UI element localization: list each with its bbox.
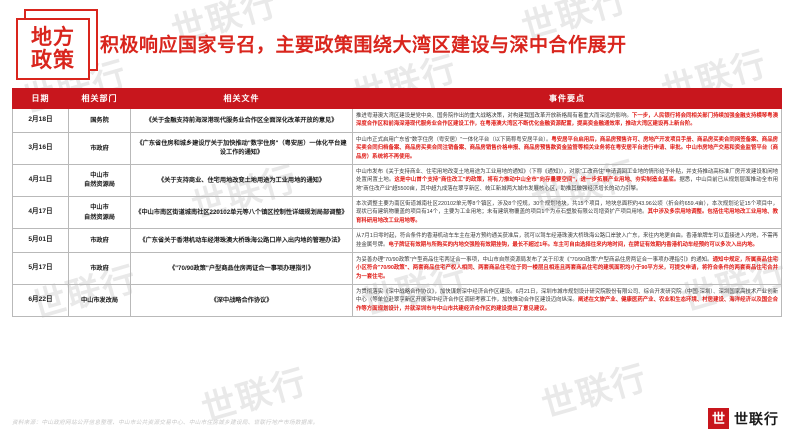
cell-file: 《关于金融支持前海深港现代服务业合作区全面深化改革开放的意见》 [131,109,353,133]
event-text-highlight: 电子牌证有效期与所购买的内地交强险有效期挂钩，最长不超过1年。车主可自由选择往来… [388,242,758,248]
cell-event-points: 中山市发布《关于支持商业、住宅用地改变土地用途为工业用地的通知》（下称《通知》）… [353,164,782,196]
cell-file: 《广东省住房和城乡建设厅关于加快推动"数字住房"（粤安居）一体化平台建设工作的通… [131,132,353,164]
table-row: 5月17日市政府《"70/90政策"户型商品住房两证合一事项办理指引》为妥善办理… [13,252,782,284]
event-text-plain: 为妥善办理"70/90政策"户型商品住宅两证合一事项，中山市自然资源局发布了关于… [356,257,713,263]
cell-date: 4月17日 [13,197,69,229]
cell-file: 《关于支持商业、住宅用地改变土地用途为工业用地的通知》 [131,164,353,196]
slide-page: 地方 政策 积极响应国家号召，主要政策围绕大湾区建设与深中合作展开 日期 相关部… [0,0,793,446]
col-header-dept: 相关部门 [69,89,131,109]
cell-file: 《"70/90政策"户型商品住房两证合一事项办理指引》 [131,252,353,284]
table-row: 3月16日市政府《广东省住房和城乡建设厅关于加快推动"数字住房"（粤安居）一体化… [13,132,782,164]
cell-date: 5月01日 [13,229,69,253]
event-text-highlight: 这是中山首个支持"商住改工"的政策，将有力推动中山全市"向存量要空间"，进一步拓… [394,177,679,183]
cell-event-points: 本次调整主要为南区街道城南社区220102单元等8个镇区，涉及8个控规，30个规… [353,197,782,229]
cell-date: 2月18日 [13,109,69,133]
cell-date: 5月17日 [13,252,69,284]
table-row: 4月17日中山市自然资源局《中山市南区街道城南社区220102单元等八个镇区控制… [13,197,782,229]
logo-mark-icon: 世 [708,408,729,429]
cell-department: 中山市发改局 [69,285,131,317]
cell-event-points: 中山市正式启用广东省"数字住房（粤安居）"一体化平台（以下简称粤安居平台）。粤安… [353,132,782,164]
policy-table-wrap: 日期 相关部门 相关文件 事件要点 2月18日国务院《关于金融支持前海深港现代服… [12,88,781,317]
table-header-row: 日期 相关部门 相关文件 事件要点 [13,89,782,109]
badge-front-card: 地方 政策 [16,18,90,80]
cell-event-points: 为贯彻落实《深中战略合作协议》，加快谋划深中经济合作区建设。6月21日，深圳市城… [353,285,782,317]
cell-department: 市政府 [69,132,131,164]
cell-file: 《广东省关于香港机动车经港珠澳大桥珠海公路口岸入出内地的管理办法》 [131,229,353,253]
policy-table-body: 2月18日国务院《关于金融支持前海深港现代服务业合作区全面深化改革开放的意见》推… [13,109,782,317]
page-header: 地方 政策 积极响应国家号召，主要政策围绕大湾区建设与深中合作展开 [0,0,793,88]
cell-date: 6月22日 [13,285,69,317]
cell-file: 《深中战略合作协议》 [131,285,353,317]
source-note: 资料来源：中山政府网站公开信息整理、中山市公共资源交易中心、中山市住房城乡建设局… [12,418,318,426]
page-title: 积极响应国家号召，主要政策围绕大湾区建设与深中合作展开 [100,30,627,57]
company-logo: 世 世联行 [708,408,779,429]
event-text-plain: 推进粤港澳大湾区建设是党中央、国务院作出的重大战略决策，对构建我国改革开放新格局… [356,113,632,119]
table-row: 6月22日中山市发改局《深中战略合作协议》为贯彻落实《深中战略合作协议》，加快谋… [13,285,782,317]
cell-event-points: 从7月1日零时起，符合条件的香港机动车车主在港方预约通关获准后，就可以驾车经港珠… [353,229,782,253]
col-header-file: 相关文件 [131,89,353,109]
section-badge: 地方 政策 [16,9,102,81]
badge-line-2: 政策 [31,49,75,72]
cell-department: 中山市自然资源局 [69,197,131,229]
cell-event-points: 为妥善办理"70/90政策"户型商品住宅两证合一事项，中山市自然资源局发布了关于… [353,252,782,284]
table-row: 2月18日国务院《关于金融支持前海深港现代服务业合作区全面深化改革开放的意见》推… [13,109,782,133]
policy-table: 日期 相关部门 相关文件 事件要点 2月18日国务院《关于金融支持前海深港现代服… [12,88,782,317]
badge-line-1: 地方 [31,26,75,49]
cell-date: 4月11日 [13,164,69,196]
col-header-points: 事件要点 [353,89,782,109]
cell-date: 3月16日 [13,132,69,164]
table-row: 4月11日中山市自然资源局《关于支持商业、住宅用地改变土地用途为工业用地的通知》… [13,164,782,196]
col-header-date: 日期 [13,89,69,109]
event-text-plain: 中山市正式启用广东省"数字住房（粤安居）"一体化平台（以下简称粤安居平台）。 [356,137,551,143]
cell-department: 市政府 [69,229,131,253]
table-row: 5月01日市政府《广东省关于香港机动车经港珠澳大桥珠海公路口岸入出内地的管理办法… [13,229,782,253]
cell-department: 市政府 [69,252,131,284]
cell-file: 《中山市南区街道城南社区220102单元等八个镇区控制性详细规划局部调整》 [131,197,353,229]
cell-department: 中山市自然资源局 [69,164,131,196]
cell-department: 国务院 [69,109,131,133]
logo-text: 世联行 [734,409,779,429]
cell-event-points: 推进粤港澳大湾区建设是党中央、国务院作出的重大战略决策，对构建我国改革开放新格局… [353,109,782,133]
